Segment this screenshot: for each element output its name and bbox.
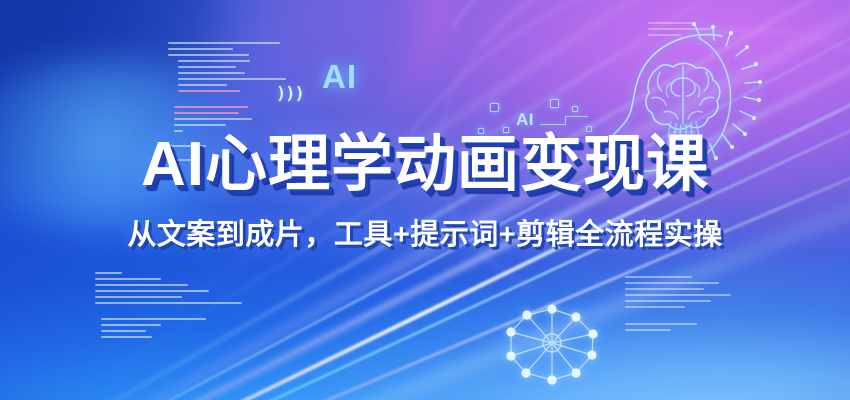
background-vignette [0, 0, 850, 400]
course-promo-banner: ))) AI AI [0, 0, 850, 400]
